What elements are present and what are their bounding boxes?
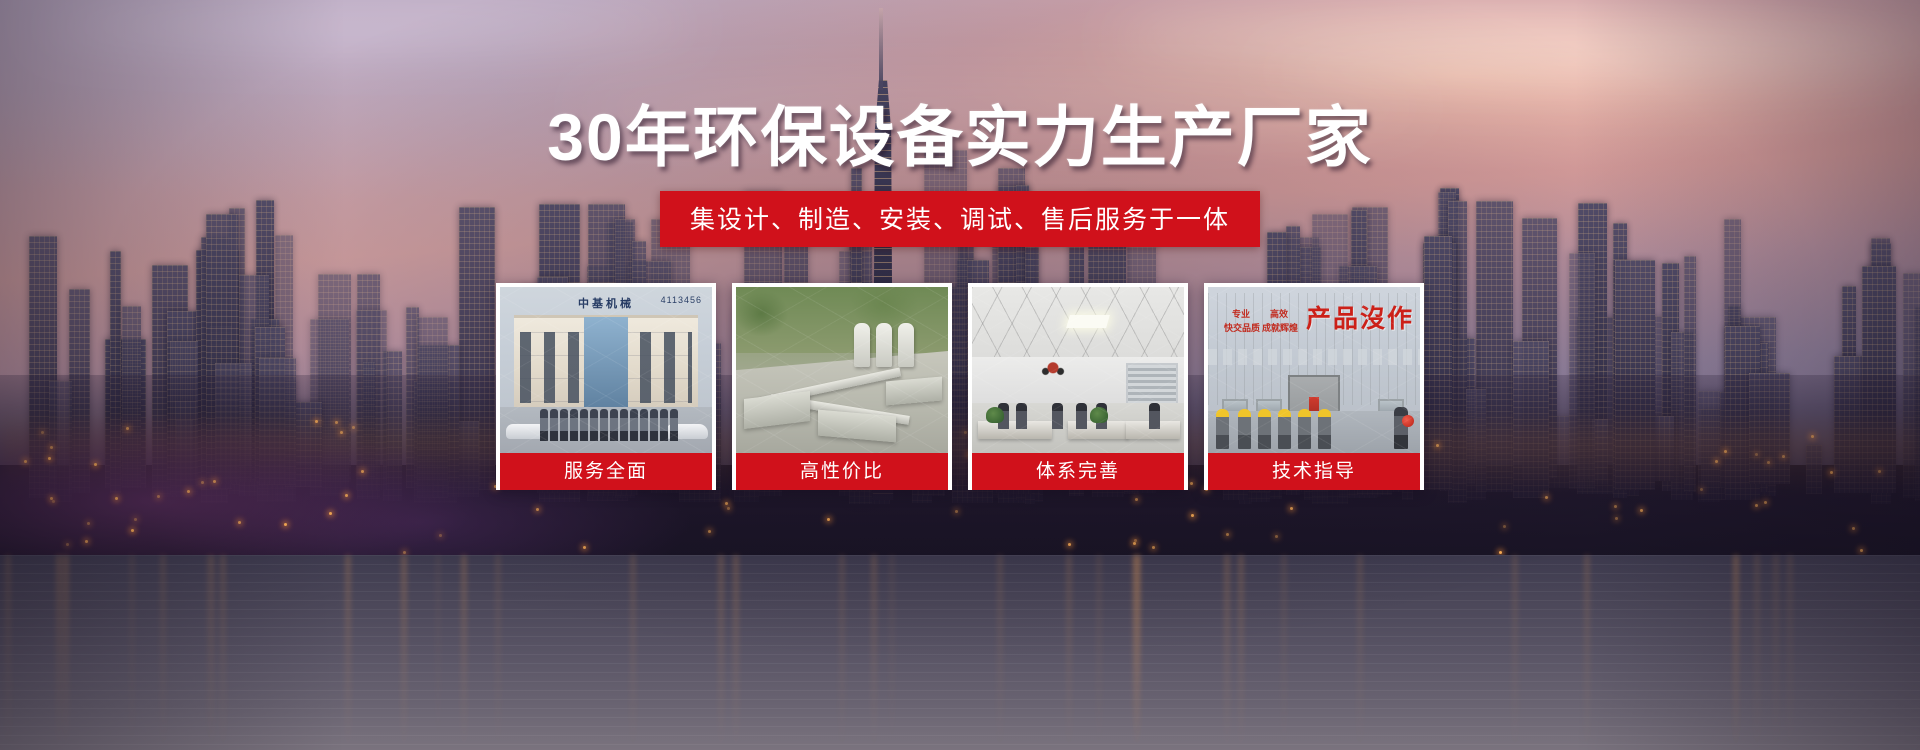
staff-member bbox=[640, 409, 648, 441]
card-thumbnail bbox=[972, 287, 1184, 453]
storage-silo bbox=[876, 323, 892, 367]
ceiling-light-panel bbox=[1066, 315, 1110, 328]
card-caption: 高性价比 bbox=[736, 453, 948, 490]
feature-card[interactable]: 产品沒作 专业 快交品质 高效 成就辉煌 bbox=[1204, 283, 1424, 490]
feature-card[interactable]: 中基机械 4113456 服务全面 bbox=[496, 283, 716, 490]
factory-slogan-small: 专业 bbox=[1232, 309, 1250, 320]
storage-silo bbox=[898, 323, 914, 367]
staff-member bbox=[660, 409, 668, 441]
staff-member bbox=[540, 409, 548, 441]
potted-plant bbox=[986, 407, 1004, 423]
vegetation bbox=[736, 287, 948, 353]
storage-silo bbox=[854, 323, 870, 367]
staff-member bbox=[650, 409, 658, 441]
card-caption: 技术指导 bbox=[1208, 453, 1420, 490]
staff-member bbox=[580, 409, 588, 441]
card-thumbnail: 产品沒作 专业 快交品质 高效 成就辉煌 bbox=[1208, 287, 1420, 453]
card-thumbnail bbox=[736, 287, 948, 453]
hero-banner: 30年环保设备实力生产厂家 集设计、制造、安装、调试、售后服务于一体 中基机械 … bbox=[0, 0, 1920, 750]
worker-with-helmet bbox=[1238, 409, 1251, 449]
facade-window-band bbox=[1208, 349, 1420, 365]
red-helmet bbox=[1402, 415, 1414, 427]
staff-member bbox=[620, 409, 628, 441]
card-caption: 体系完善 bbox=[972, 453, 1184, 490]
worker-with-helmet bbox=[1298, 409, 1311, 449]
worker-with-helmet bbox=[1216, 409, 1229, 449]
banner-content: 30年环保设备实力生产厂家 集设计、制造、安装、调试、售后服务于一体 中基机械 … bbox=[0, 0, 1920, 750]
supervisor bbox=[1394, 407, 1408, 449]
worker-with-helmet bbox=[1258, 409, 1271, 449]
staff-lineup bbox=[540, 409, 678, 443]
staff-member bbox=[600, 409, 608, 441]
factory-slogan-small: 快交品质 bbox=[1224, 323, 1260, 334]
banner-headline: 30年环保设备实力生产厂家 bbox=[0, 104, 1920, 170]
seated-person bbox=[1076, 403, 1087, 429]
seated-person bbox=[1149, 403, 1160, 429]
staff-member bbox=[630, 409, 638, 441]
building-phone-text: 4113456 bbox=[661, 295, 702, 305]
staff-member bbox=[560, 409, 568, 441]
feature-card-list: 中基机械 4113456 服务全面 bbox=[496, 283, 1424, 490]
staff-member bbox=[610, 409, 618, 441]
factory-slogan-small: 成就辉煌 bbox=[1262, 323, 1298, 334]
seated-person bbox=[1016, 403, 1027, 429]
wall-decal bbox=[1036, 357, 1070, 381]
building-atrium bbox=[584, 317, 628, 413]
feature-card[interactable]: 高性价比 bbox=[732, 283, 952, 490]
building-sign-text: 中基机械 bbox=[578, 295, 634, 311]
factory-slogan-small: 高效 bbox=[1270, 309, 1288, 320]
staff-member bbox=[570, 409, 578, 441]
worker-with-helmet bbox=[1278, 409, 1291, 449]
staff-member bbox=[670, 409, 678, 441]
staff-member bbox=[550, 409, 558, 441]
seated-person bbox=[1052, 403, 1063, 429]
factory-shed bbox=[886, 377, 942, 406]
potted-plant bbox=[1090, 407, 1108, 423]
feature-card[interactable]: 体系完善 bbox=[968, 283, 1188, 490]
worker-with-helmet bbox=[1318, 409, 1331, 449]
card-thumbnail: 中基机械 4113456 bbox=[500, 287, 712, 453]
factory-slogan-text: 产品沒作 bbox=[1306, 299, 1414, 335]
banner-subtitle-bar: 集设计、制造、安装、调试、售后服务于一体 bbox=[660, 191, 1260, 247]
window-blinds bbox=[1126, 363, 1178, 407]
card-caption: 服务全面 bbox=[500, 453, 712, 490]
office-desk bbox=[978, 421, 1052, 439]
staff-member bbox=[590, 409, 598, 441]
